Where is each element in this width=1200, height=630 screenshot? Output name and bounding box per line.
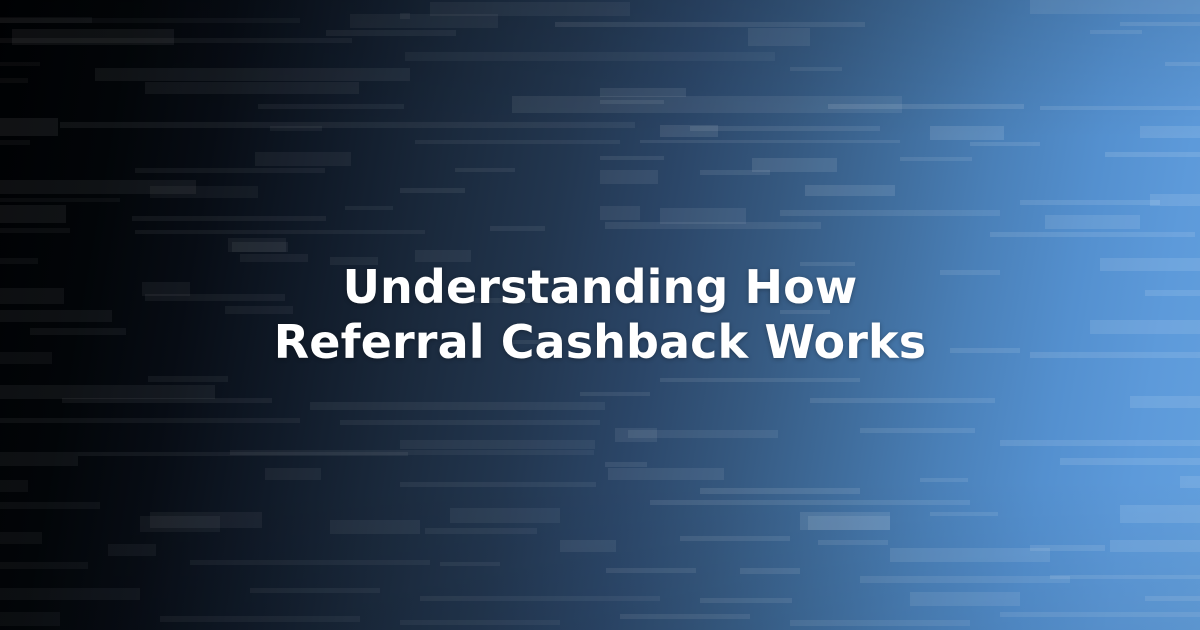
page-title: Understanding How Referral Cashback Work… [240, 260, 960, 370]
title-block: Understanding How Referral Cashback Work… [0, 0, 1200, 630]
social-share-banner: Understanding How Referral Cashback Work… [0, 0, 1200, 630]
